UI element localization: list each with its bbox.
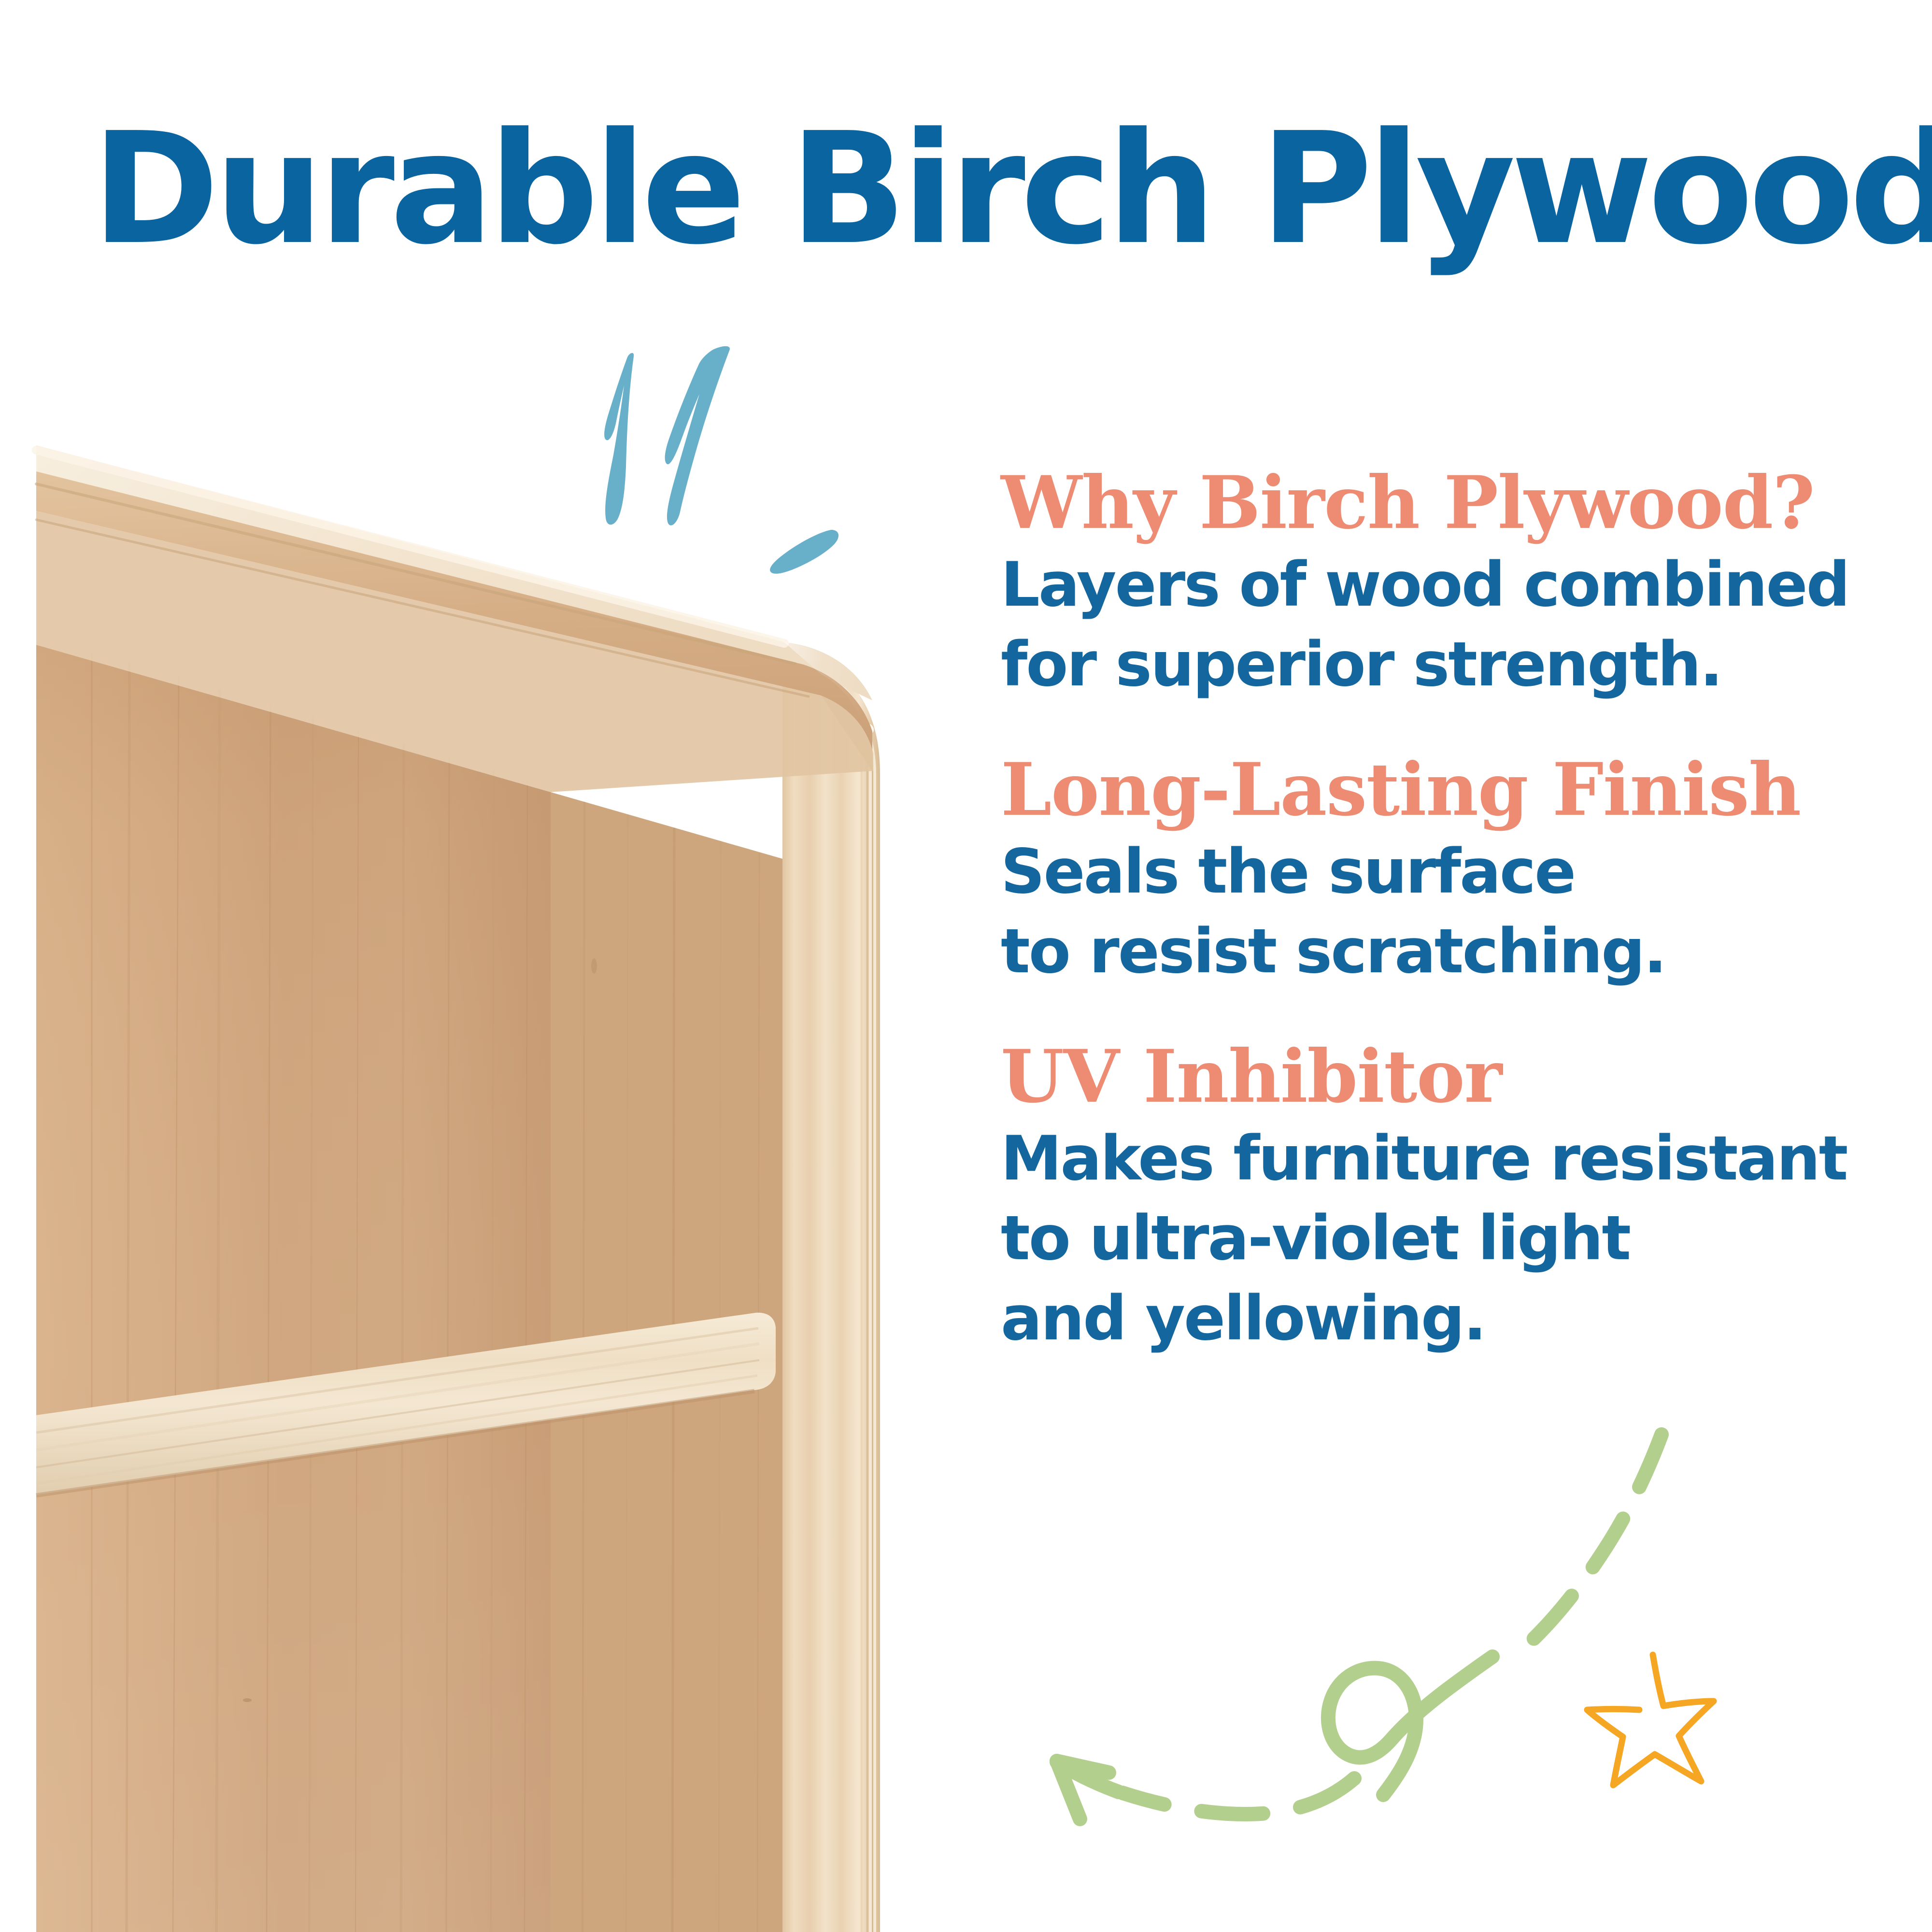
plywood-photo: [0, 425, 903, 1932]
feature-body: Makes furniture resistant to ultra-viole…: [1001, 1119, 1880, 1358]
feature-block-long-lasting-finish: Long-Lasting Finish Seals the surface to…: [1001, 751, 1880, 991]
wood-grain-fleck: [591, 958, 597, 974]
star-outline-icon: [1579, 1642, 1724, 1787]
feature-heading: UV Inhibitor: [1001, 1037, 1880, 1116]
plywood-body: [36, 445, 880, 1932]
feature-body: Layers of wood combined for superior str…: [1001, 545, 1880, 704]
feature-body-line: to ultra-violet light: [1001, 1198, 1880, 1278]
feature-heading: Long-Lasting Finish: [1001, 751, 1880, 829]
feature-body-line: to resist scratching.: [1001, 911, 1880, 991]
page-title: Durable Birch Plywood: [92, 112, 1850, 266]
feature-block-uv-inhibitor: UV Inhibitor Makes furniture resistant t…: [1001, 1037, 1880, 1358]
feature-body: Seals the surface to resist scratching.: [1001, 832, 1880, 991]
feature-block-why-birch-plywood: Why Birch Plywood? Layers of wood combin…: [1001, 464, 1880, 704]
feature-body-line: Makes furniture resistant: [1001, 1119, 1880, 1198]
star-stroke: [1587, 1655, 1714, 1785]
wood-knot: [243, 1698, 252, 1702]
plywood-illustration: [0, 425, 903, 1932]
feature-body-line: and yellowing.: [1001, 1279, 1880, 1358]
curved-dashed-arrow-icon: [1005, 1415, 1690, 1840]
feature-body-line: Seals the surface: [1001, 832, 1880, 911]
feature-list: Why Birch Plywood? Layers of wood combin…: [1001, 464, 1880, 1358]
poster-canvas: Durable Birch Plywood: [0, 0, 1932, 1932]
panel-shading: [36, 645, 551, 1932]
feature-heading: Why Birch Plywood?: [1001, 464, 1880, 542]
feature-body-line: Layers of wood combined: [1001, 545, 1880, 625]
plywood-edge-band: [782, 652, 880, 1932]
feature-body-line: for superior strength.: [1001, 625, 1880, 704]
